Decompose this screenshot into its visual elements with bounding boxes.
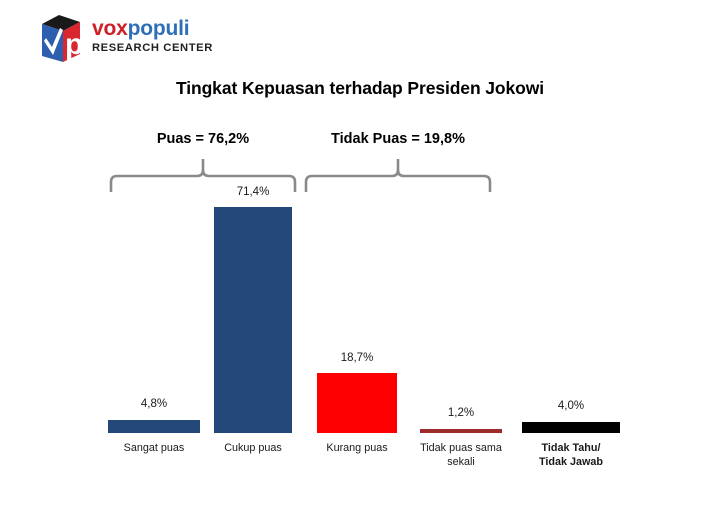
bar-value-0: 4,8% (108, 398, 200, 410)
category-label-4: Tidak Tahu/ Tidak Jawab (513, 441, 629, 469)
bar-value-3: 1,2% (420, 407, 502, 419)
category-label-2: Kurang puas (299, 441, 415, 455)
chart-page: p voxpopuli RESEARCH CENTER Tingkat Kepu… (0, 0, 720, 530)
category-label-3-line-1: sekali (403, 455, 519, 469)
bar-kurang-puas (317, 373, 397, 433)
category-label-3: Tidak puas sama sekali (403, 441, 519, 469)
category-label-4-line-0: Tidak Tahu/ (513, 441, 629, 455)
category-label-4-line-1: Tidak Jawab (513, 455, 629, 469)
category-label-1: Cukup puas (195, 441, 311, 455)
category-label-1-line-0: Cukup puas (195, 441, 311, 455)
category-label-3-line-0: Tidak puas sama (403, 441, 519, 455)
bar-cukup-puas (214, 207, 292, 433)
bar-value-4: 4,0% (522, 400, 620, 412)
bar-value-1: 71,4% (214, 186, 292, 198)
bar-value-2: 18,7% (317, 352, 397, 364)
bar-sangat-puas (108, 420, 200, 433)
bar-tidak-puas-sama-sekali (420, 429, 502, 433)
bar-tidak-tahu-tidak-jawab (522, 422, 620, 433)
category-label-2-line-0: Kurang puas (299, 441, 415, 455)
plot-area: 4,8% Sangat puas 71,4% Cukup puas 18,7% … (0, 0, 720, 530)
